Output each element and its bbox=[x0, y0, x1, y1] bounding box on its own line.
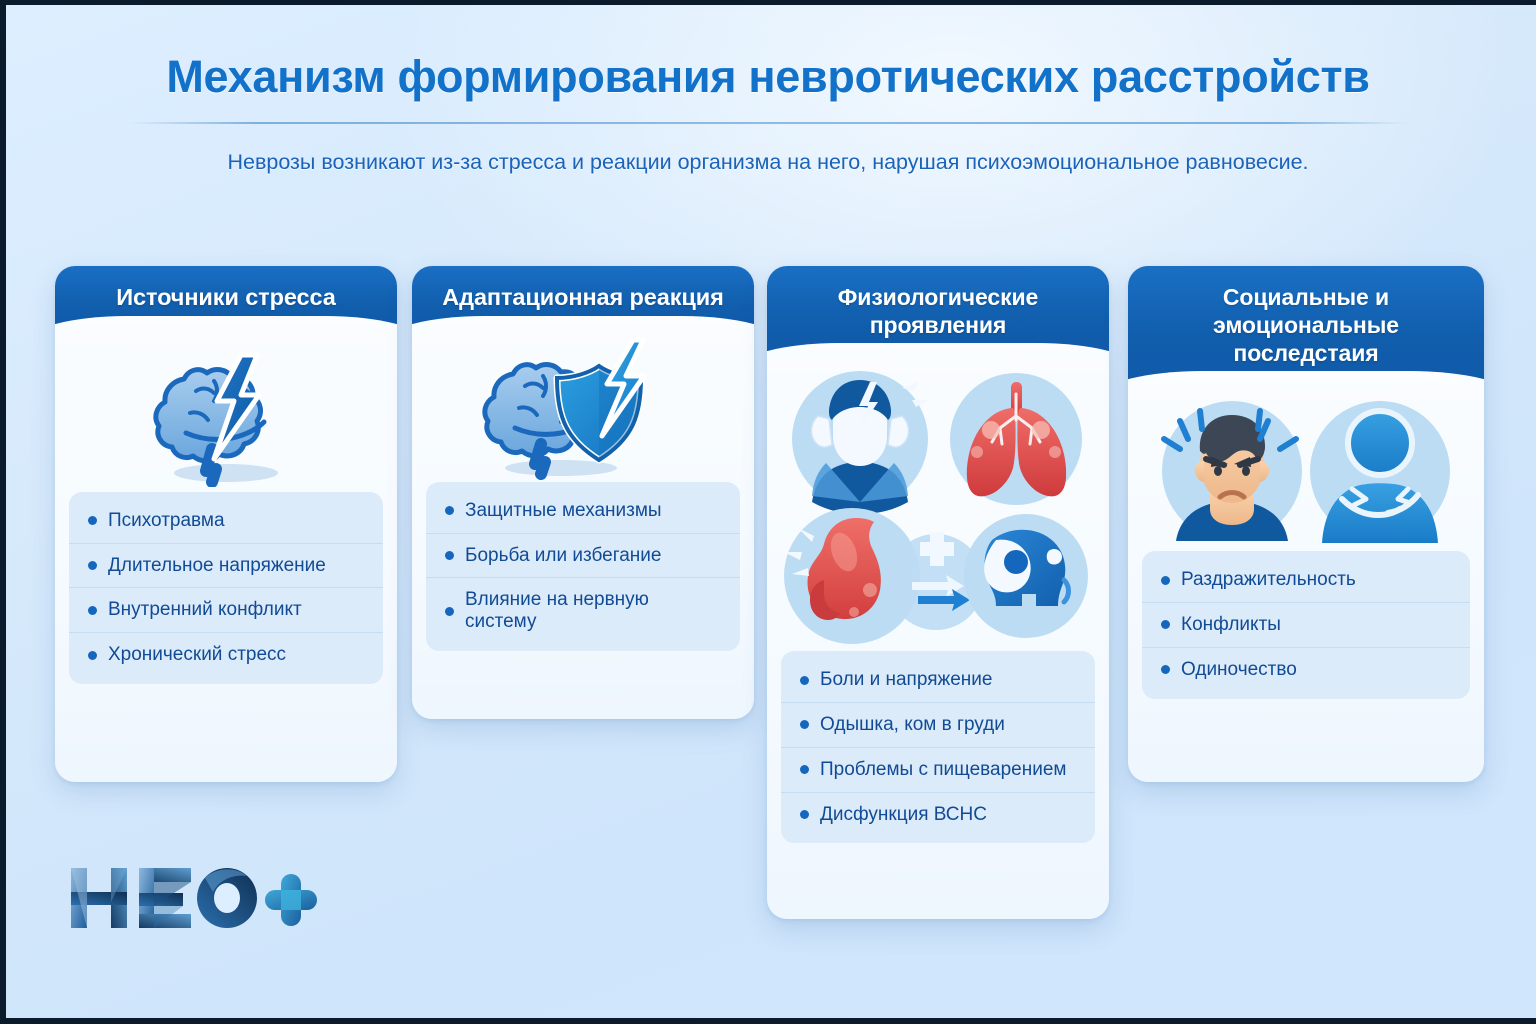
list-item-label: Хронический стресс bbox=[108, 644, 286, 666]
list-item: Психотравма bbox=[69, 499, 383, 544]
list-item-label: Конфликты bbox=[1181, 614, 1281, 636]
list-item: Защитные механизмы bbox=[426, 489, 740, 534]
list-item-label: Защитные механизмы bbox=[465, 500, 662, 522]
list-item: Внутренний конфликт bbox=[69, 588, 383, 633]
card-list: Боли и напряжение Одышка, ком в груди Пр… bbox=[781, 651, 1095, 843]
bullet-icon bbox=[1161, 665, 1170, 674]
card-title: Физиологические проявления bbox=[767, 266, 1109, 365]
list-item-label: Раздражительность bbox=[1181, 569, 1356, 591]
list-item-label: Боли и напряжение bbox=[820, 669, 992, 691]
logo-letter-o bbox=[197, 868, 257, 928]
header: Механизм формирования невротических расс… bbox=[0, 52, 1536, 175]
canvas-edge-bottom bbox=[0, 1018, 1536, 1024]
card-title: Адаптационная реакция bbox=[412, 266, 754, 338]
card-social-emotional-consequences: Социальные и эмоциональные последстаия bbox=[1128, 266, 1484, 782]
list-item: Конфликты bbox=[1142, 603, 1470, 648]
list-item: Раздражительность bbox=[1142, 558, 1470, 603]
physiological-icon-group bbox=[767, 361, 1109, 651]
list-item: Одышка, ком в груди bbox=[781, 703, 1095, 748]
list-item-label: Внутренний конфликт bbox=[108, 599, 302, 621]
list-item: Борьба или избегание bbox=[426, 534, 740, 579]
bullet-icon bbox=[800, 676, 809, 685]
neo-plus-logo bbox=[67, 862, 327, 942]
list-item: Боли и напряжение bbox=[781, 658, 1095, 703]
list-item-label: Влияние на нервную систему bbox=[465, 589, 724, 633]
list-item-label: Проблемы с пищеварением bbox=[820, 759, 1066, 781]
logo-plus-icon bbox=[265, 874, 317, 926]
bullet-icon bbox=[445, 506, 454, 515]
list-item: Хронический стресс bbox=[69, 633, 383, 677]
card-list: Защитные механизмы Борьба или избегание … bbox=[426, 482, 740, 651]
list-item-label: Дисфункция ВСНС bbox=[820, 804, 987, 826]
list-item: Длительное напряжение bbox=[69, 544, 383, 589]
card-adaptive-reaction: Адаптационная реакция bbox=[412, 266, 754, 719]
bullet-icon bbox=[800, 810, 809, 819]
card-sources-of-stress: Источники стресса Психо bbox=[55, 266, 397, 782]
list-item: Одиночество bbox=[1142, 648, 1470, 692]
bullet-icon bbox=[800, 720, 809, 729]
bullet-icon bbox=[88, 561, 97, 570]
list-item-label: Длительное напряжение bbox=[108, 555, 326, 577]
canvas-edge-top bbox=[0, 0, 1536, 5]
card-title: Источники стресса bbox=[55, 266, 397, 338]
bullet-icon bbox=[88, 606, 97, 615]
infographic-canvas: Механизм формирования невротических расс… bbox=[0, 0, 1536, 1024]
bullet-icon bbox=[445, 607, 454, 616]
bullet-icon bbox=[88, 651, 97, 660]
list-item: Влияние на нервную систему bbox=[426, 578, 740, 644]
page-title: Механизм формирования невротических расс… bbox=[0, 52, 1536, 102]
social-emotional-icon-group bbox=[1128, 391, 1484, 551]
brain-shield-lightning-icon bbox=[412, 332, 754, 482]
list-item-label: Психотравма bbox=[108, 510, 225, 532]
bullet-icon bbox=[88, 516, 97, 525]
card-title: Социальные и эмоциональные последстаия bbox=[1128, 266, 1484, 393]
bullet-icon bbox=[445, 551, 454, 560]
title-divider bbox=[129, 122, 1407, 124]
card-list: Психотравма Длительное напряжение Внутре… bbox=[69, 492, 383, 684]
list-item-label: Одышка, ком в груди bbox=[820, 714, 1005, 736]
brain-lightning-icon bbox=[55, 332, 397, 492]
logo-letter-n bbox=[71, 868, 127, 928]
list-item: Дисфункция ВСНС bbox=[781, 793, 1095, 837]
list-item-label: Одиночество bbox=[1181, 659, 1297, 681]
page-subtitle: Неврозы возникают из-за стресса и реакци… bbox=[0, 150, 1536, 175]
bullet-icon bbox=[1161, 576, 1170, 585]
bullet-icon bbox=[800, 765, 809, 774]
list-item: Проблемы с пищеварением bbox=[781, 748, 1095, 793]
card-list: Раздражительность Конфликты Одиночество bbox=[1142, 551, 1470, 699]
bullet-icon bbox=[1161, 620, 1170, 629]
logo-letter-e bbox=[139, 868, 191, 928]
card-physiological-manifestations: Физиологические проявления bbox=[767, 266, 1109, 919]
list-item-label: Борьба или избегание bbox=[465, 545, 662, 567]
